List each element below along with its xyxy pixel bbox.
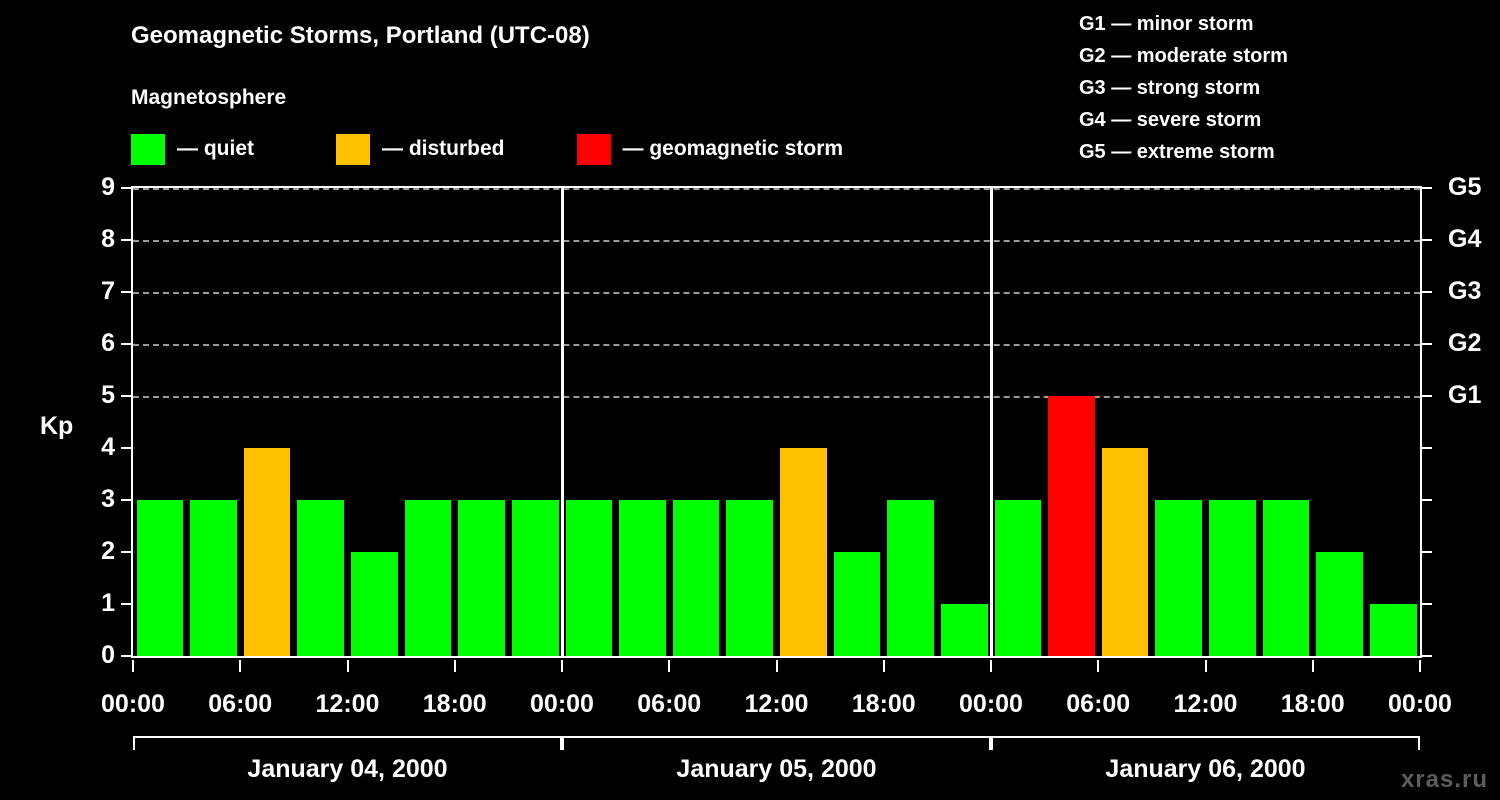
x-axis-tick-label-12: 00:00 [1388, 690, 1452, 719]
bar[interactable] [673, 500, 720, 656]
bar[interactable] [405, 500, 452, 656]
x-axis-tick-mark-9 [1097, 660, 1099, 672]
x-axis-tick-label-8: 00:00 [959, 690, 1023, 719]
legend-heading: Magnetosphere [131, 86, 286, 110]
y-axis-tick-mark-7 [121, 291, 131, 293]
day-divider-2 [990, 188, 993, 656]
bar[interactable] [887, 500, 934, 656]
g-axis-tick-mark-G1 [1422, 395, 1432, 397]
y-axis-tick-label-8: 8 [75, 227, 115, 252]
g-axis-tick-label-G4: G4 [1448, 227, 1481, 252]
x-axis-tick-label-9: 06:00 [1066, 690, 1130, 719]
y-axis-tick-label-9: 9 [75, 175, 115, 200]
x-axis-tick-mark-3 [454, 660, 456, 672]
g-axis-tick-mark-G3 [1422, 291, 1432, 293]
y-axis-tick-label-3: 3 [75, 487, 115, 512]
x-axis-tick-mark-1 [239, 660, 241, 672]
y-axis-tick-mark-4 [121, 447, 131, 449]
bar[interactable] [297, 500, 344, 656]
y-axis-tick-label-2: 2 [75, 539, 115, 564]
y-axis-tick-label-0: 0 [75, 643, 115, 668]
bar[interactable] [1102, 448, 1149, 656]
g-axis-tick-label-G5: G5 [1448, 175, 1481, 200]
g-axis-minor-mark-0 [1422, 655, 1432, 657]
x-axis-tick-label-4: 00:00 [530, 690, 594, 719]
g-axis-tick-label-G2: G2 [1448, 331, 1481, 356]
g-axis-tick-mark-G2 [1422, 343, 1432, 345]
x-axis-tick-mark-7 [883, 660, 885, 672]
legend-swatch-quiet [131, 134, 165, 165]
y-axis-tick-mark-2 [121, 551, 131, 553]
plot-inner [133, 188, 1420, 656]
day-bracket-2 [562, 736, 991, 750]
legend-label-quiet: — quiet [177, 137, 254, 161]
geomagnetic-storm-chart: Geomagnetic Storms, Portland (UTC-08) Ma… [0, 0, 1500, 800]
day-label-2: January 05, 2000 [676, 755, 876, 784]
gscale-legend-line-1: G1 — minor storm [1079, 8, 1288, 40]
bar[interactable] [512, 500, 559, 656]
bar[interactable] [1370, 604, 1417, 656]
day-bracket-3 [991, 736, 1420, 750]
y-axis-tick-mark-0 [121, 655, 131, 657]
watermark: xras.ru [1401, 766, 1488, 794]
g-scale-legend: G1 — minor stormG2 — moderate stormG3 — … [1079, 8, 1288, 168]
x-axis-tick-mark-11 [1312, 660, 1314, 672]
x-axis-tick-mark-12 [1419, 660, 1421, 672]
x-axis-tick-mark-8 [990, 660, 992, 672]
y-axis-tick-label-1: 1 [75, 591, 115, 616]
page-title: Geomagnetic Storms, Portland (UTC-08) [131, 22, 590, 50]
bar[interactable] [190, 500, 237, 656]
legend-label-storm: — geomagnetic storm [623, 137, 844, 161]
y-axis-tick-mark-1 [121, 603, 131, 605]
bar[interactable] [1316, 552, 1363, 656]
x-axis-tick-label-11: 18:00 [1281, 690, 1345, 719]
gridline-kp-8 [133, 240, 1420, 242]
gridline-kp-9 [133, 188, 1420, 190]
x-axis-tick-label-5: 06:00 [637, 690, 701, 719]
legend-label-disturbed: — disturbed [382, 137, 505, 161]
legend-item-quiet[interactable]: — quiet [131, 133, 254, 165]
legend-swatch-disturbed [336, 134, 370, 165]
y-axis-tick-mark-5 [121, 395, 131, 397]
x-axis-tick-label-0: 00:00 [101, 690, 165, 719]
g-axis-minor-mark-3 [1422, 499, 1432, 501]
bar[interactable] [458, 500, 505, 656]
y-axis-tick-mark-6 [121, 343, 131, 345]
bar[interactable] [566, 500, 613, 656]
g-axis-tick-mark-G4 [1422, 239, 1432, 241]
x-axis-tick-label-6: 12:00 [745, 690, 809, 719]
g-axis-minor-mark-4 [1422, 447, 1432, 449]
bar[interactable] [1155, 500, 1202, 656]
bar[interactable] [351, 552, 398, 656]
bar[interactable] [1048, 396, 1095, 656]
x-axis-tick-mark-4 [561, 660, 563, 672]
bar[interactable] [995, 500, 1042, 656]
day-label-1: January 04, 2000 [247, 755, 447, 784]
g-axis-tick-mark-G5 [1422, 187, 1432, 189]
legend-swatch-storm [577, 134, 611, 165]
bar[interactable] [780, 448, 827, 656]
bar[interactable] [619, 500, 666, 656]
legend-item-disturbed[interactable]: — disturbed [336, 133, 505, 165]
x-axis-tick-mark-2 [347, 660, 349, 672]
bar[interactable] [726, 500, 773, 656]
bar[interactable] [941, 604, 988, 656]
gscale-legend-line-4: G4 — severe storm [1079, 104, 1288, 136]
legend: — quiet— disturbed— geomagnetic storm [131, 133, 843, 165]
gridline-kp-7 [133, 292, 1420, 294]
x-axis-tick-label-10: 12:00 [1174, 690, 1238, 719]
bar[interactable] [1209, 500, 1256, 656]
y-axis-tick-mark-8 [121, 239, 131, 241]
g-axis-tick-label-G1: G1 [1448, 383, 1481, 408]
x-axis-tick-label-7: 18:00 [852, 690, 916, 719]
gscale-legend-line-3: G3 — strong storm [1079, 72, 1288, 104]
y-axis-tick-mark-3 [121, 499, 131, 501]
gscale-legend-line-2: G2 — moderate storm [1079, 40, 1288, 72]
x-axis-tick-label-1: 06:00 [208, 690, 272, 719]
y-axis-tick-label-7: 7 [75, 279, 115, 304]
gscale-legend-line-5: G5 — extreme storm [1079, 136, 1288, 168]
x-axis-tick-label-3: 18:00 [423, 690, 487, 719]
day-divider-1 [561, 188, 564, 656]
y-axis-title: Kp [40, 412, 73, 441]
g-axis-minor-mark-1 [1422, 603, 1432, 605]
gridline-kp-6 [133, 344, 1420, 346]
y-axis-tick-label-5: 5 [75, 383, 115, 408]
x-axis-tick-mark-10 [1205, 660, 1207, 672]
legend-item-storm[interactable]: — geomagnetic storm [577, 133, 844, 165]
x-axis-tick-mark-5 [668, 660, 670, 672]
bar[interactable] [244, 448, 291, 656]
bar[interactable] [834, 552, 881, 656]
g-axis-minor-mark-2 [1422, 551, 1432, 553]
y-axis-tick-label-6: 6 [75, 331, 115, 356]
bar[interactable] [1263, 500, 1310, 656]
y-axis-tick-label-4: 4 [75, 435, 115, 460]
g-axis-tick-label-G3: G3 [1448, 279, 1481, 304]
day-label-3: January 06, 2000 [1105, 755, 1305, 784]
day-bracket-1 [133, 736, 562, 750]
x-axis-tick-label-2: 12:00 [316, 690, 380, 719]
plot-area [131, 186, 1422, 658]
gridline-kp-5 [133, 396, 1420, 398]
x-axis-tick-mark-0 [132, 660, 134, 672]
bar[interactable] [137, 500, 184, 656]
x-axis-tick-mark-6 [776, 660, 778, 672]
y-axis-tick-mark-9 [121, 187, 131, 189]
